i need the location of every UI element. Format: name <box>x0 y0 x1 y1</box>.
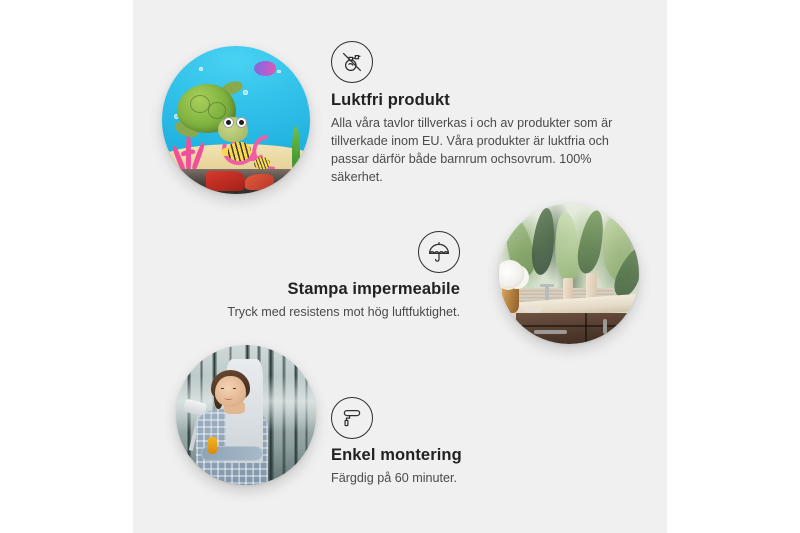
feature-title: Enkel montering <box>331 446 581 465</box>
purple-fish-icon <box>254 61 276 76</box>
feature-icon-wrap <box>214 231 460 273</box>
wood-cabinet <box>516 313 639 344</box>
image-bathroom-vanity <box>499 204 639 344</box>
feature-title: Stampa impermeabile <box>214 280 460 299</box>
turtle-eye <box>223 117 234 128</box>
woman-smile <box>224 395 234 400</box>
paint-roller-icon <box>331 397 373 439</box>
feature-body: Alla våra tavlor tillverkas i och av pro… <box>331 115 623 187</box>
bubble-icon <box>243 90 247 94</box>
octopus-icon <box>266 84 310 134</box>
image-underwater-scene <box>162 46 310 194</box>
feature-waterproof: Stampa impermeabile Tryck med resistens … <box>214 231 460 322</box>
screenshot-root: Luktfri produkt Alla våra tavlor tillver… <box>0 0 800 533</box>
yellow-fish-icon <box>227 142 251 161</box>
feature-body: Tryck med resistens mot hög luftfuktighe… <box>214 304 460 322</box>
cabinet-handle <box>603 319 607 333</box>
feature-icon-wrap <box>331 397 581 439</box>
feature-icon-wrap <box>331 41 623 83</box>
feature-odor-free: Luktfri produkt Alla våra tavlor tillver… <box>331 41 623 187</box>
woman-face <box>215 376 246 407</box>
feature-title: Luktfri produkt <box>331 91 623 110</box>
umbrella-icon <box>418 231 460 273</box>
no-fragrance-icon <box>331 41 373 83</box>
bubble-icon <box>199 67 203 71</box>
sea-foreground-strip <box>162 169 310 194</box>
feature-easy-mounting: Enkel montering Färgdig på 60 minuter. <box>331 397 581 488</box>
image-woman-with-roller <box>176 345 316 485</box>
roller-grip <box>208 437 216 454</box>
feature-body: Färgdig på 60 minuter. <box>331 470 581 488</box>
bubble-icon <box>277 70 280 73</box>
cabinet-handle <box>534 330 567 334</box>
